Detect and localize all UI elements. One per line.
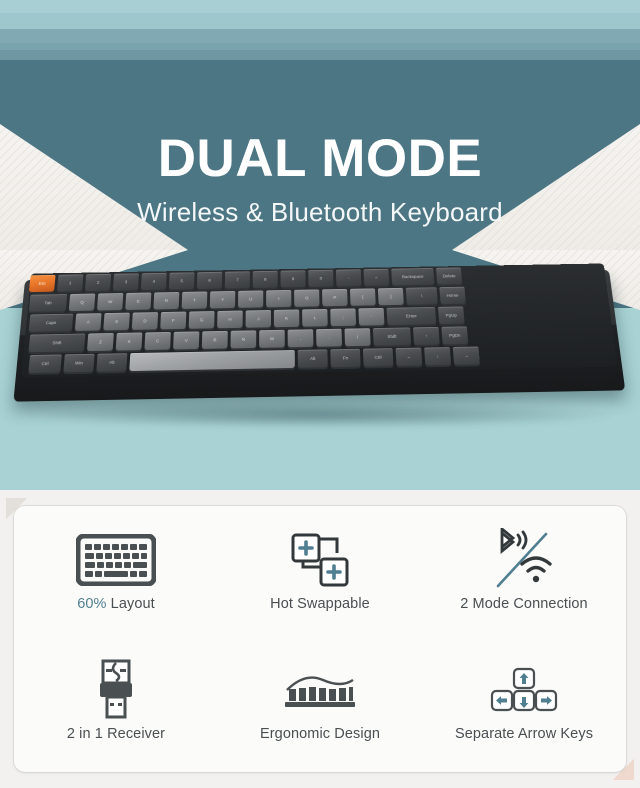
keycap: Q — [69, 294, 96, 312]
keycap: 3 — [113, 273, 139, 290]
keycap: / — [344, 328, 370, 346]
hero-banner: DUAL MODE Wireless & Bluetooth Keyboard — [0, 0, 640, 250]
keycap: ; — [330, 308, 356, 326]
keycap: S — [103, 313, 130, 331]
keycap: 9 — [281, 270, 306, 287]
keycap: E — [125, 293, 151, 310]
hot-swap-icon — [289, 524, 351, 596]
keycap: 0 — [308, 270, 333, 287]
keycap: Enter — [387, 307, 437, 325]
keycap: F — [160, 312, 186, 330]
keycap: B — [202, 331, 228, 349]
keycap: ↓ — [424, 347, 451, 365]
keycap: G — [189, 311, 215, 329]
keycap: Fn — [330, 349, 360, 367]
keycap: ' — [358, 308, 384, 326]
keycap: . — [316, 329, 342, 347]
feature-label: Hot Swappable — [270, 596, 370, 612]
feature-separate-arrow-keys: Separate Arrow Keys — [422, 654, 626, 742]
keycap: Win — [63, 354, 94, 373]
feature-label-rest: Ergonomic Design — [260, 726, 380, 742]
feature-label-rest: Separate Arrow Keys — [455, 726, 593, 742]
hero-stripe-1 — [0, 0, 640, 13]
keycap: Tab — [29, 294, 68, 312]
feature-label-rest: Hot Swappable — [270, 596, 370, 612]
keycap: U — [238, 290, 263, 307]
features-section: 60% Layout Hot Swappable — [0, 490, 640, 788]
ergonomic-profile-icon — [283, 654, 357, 726]
usb-receiver-icon — [94, 654, 138, 726]
hero-stripe-5 — [0, 50, 640, 60]
keycap: Alt — [298, 349, 328, 367]
keycap: D — [132, 312, 158, 330]
keycap: Delete — [436, 267, 462, 284]
feature-label: Ergonomic Design — [260, 726, 380, 742]
feature-hot-swappable: Hot Swappable — [218, 524, 422, 612]
keycap: \ — [406, 287, 438, 305]
keycap: Caps — [29, 314, 74, 332]
keycap: [ — [350, 288, 376, 305]
feature-label: 2 in 1 Receiver — [67, 726, 165, 742]
keycap: Ctrl — [363, 348, 394, 366]
keycap: Ctrl — [28, 354, 62, 373]
keycap: Shift — [28, 334, 85, 353]
keycap: Esc — [29, 275, 56, 292]
keycap: T — [182, 291, 208, 308]
feature-label-rest: 2 in 1 Receiver — [67, 726, 165, 742]
keycap: 1 — [57, 274, 84, 291]
bluetooth-wifi-icon — [484, 524, 564, 596]
keycap: L — [302, 309, 328, 327]
feature-label-rest: Layout — [107, 596, 155, 612]
keycap: H — [217, 311, 243, 329]
keycap: K — [274, 309, 299, 327]
feature-ergonomic-design: Ergonomic Design — [218, 654, 422, 742]
keycap — [129, 350, 295, 371]
keycap: → — [453, 347, 480, 365]
keycap: PgUp — [438, 306, 465, 324]
arrow-keys-icon — [490, 654, 558, 726]
keycap: V — [173, 331, 199, 349]
product-infographic: DUAL MODE Wireless & Bluetooth Keyboard … — [0, 0, 640, 788]
keycap: A — [75, 313, 102, 331]
feature-60-layout: 60% Layout — [14, 524, 218, 612]
keycap: ← — [396, 348, 423, 366]
keycap: 7 — [225, 271, 250, 288]
page-subtitle: Wireless & Bluetooth Keyboard — [0, 199, 640, 225]
keycap: Alt — [96, 353, 127, 372]
hero-stripe-3 — [0, 29, 640, 43]
keycap: P — [322, 289, 348, 306]
keycap: Z — [87, 333, 114, 351]
keycap: ] — [378, 288, 404, 305]
keycap: R — [153, 292, 179, 309]
keycap: - — [336, 269, 361, 286]
features-row-1: 60% Layout Hot Swappable — [14, 524, 626, 612]
keycap: C — [144, 332, 171, 350]
page-title: DUAL MODE — [0, 132, 640, 185]
keycap: W — [97, 293, 123, 311]
features-row-2: 2 in 1 Receiver — [14, 654, 626, 742]
feature-label-rest: 2 Mode Connection — [460, 596, 587, 612]
keycap: Shift — [373, 327, 411, 345]
keycap: Y — [210, 291, 236, 308]
keyboard-keys: Esc1234567890-=BackspaceDeleteTabQWERTYU… — [19, 263, 619, 382]
keycap: ↑ — [413, 327, 440, 345]
keycap: 6 — [197, 272, 222, 289]
keycap: J — [246, 310, 271, 328]
keycap: Backspace — [391, 268, 434, 285]
feature-label: Separate Arrow Keys — [455, 726, 593, 742]
feature-2-in-1-receiver: 2 in 1 Receiver — [14, 654, 218, 742]
feature-label: 60% Layout — [77, 596, 155, 612]
feature-label-accent: 60% — [77, 596, 106, 612]
keycap: X — [116, 332, 143, 350]
keycap: , — [288, 329, 314, 347]
product-stage: Esc1234567890-=BackspaceDeleteTabQWERTYU… — [0, 250, 640, 490]
keycap: Home — [439, 287, 465, 304]
hero-stripe-2 — [0, 13, 640, 29]
hero-stripe-4 — [0, 43, 640, 50]
feature-label: 2 Mode Connection — [460, 596, 587, 612]
keycap: 5 — [169, 272, 195, 289]
keycap: 2 — [85, 274, 111, 291]
keycap: I — [266, 290, 291, 307]
keycap: = — [364, 269, 390, 286]
keycap: O — [294, 289, 319, 306]
keyboard-icon — [76, 524, 156, 596]
keyboard-product-image: Esc1234567890-=BackspaceDeleteTabQWERTYU… — [6, 258, 634, 418]
features-panel: 60% Layout Hot Swappable — [14, 506, 626, 772]
keycap: 4 — [141, 273, 167, 290]
keycap: 8 — [253, 271, 278, 288]
keycap: M — [259, 330, 285, 348]
feature-2-mode-connection: 2 Mode Connection — [422, 524, 626, 612]
keycap: N — [230, 330, 256, 348]
keycap: PgDn — [441, 326, 468, 344]
